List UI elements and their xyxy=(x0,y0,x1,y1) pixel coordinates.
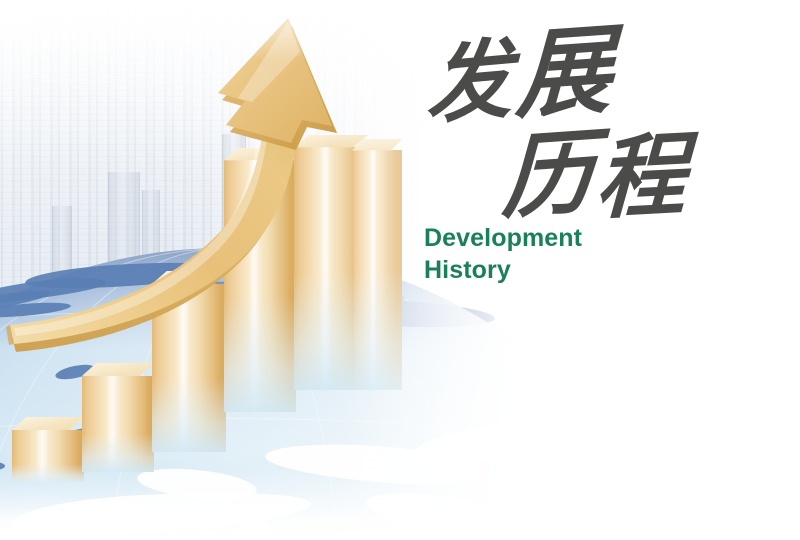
bar-fade xyxy=(152,378,226,452)
title-block: 发 展 历 程 Development History xyxy=(424,18,744,286)
chinese-char-fa: 发 xyxy=(426,36,512,130)
chinese-char-li: 历 xyxy=(500,127,595,226)
chinese-char-zhan: 展 xyxy=(514,22,613,125)
bar-fade xyxy=(224,296,296,412)
english-subtitle-line-1: Development xyxy=(424,222,744,254)
chinese-char-cheng: 程 xyxy=(594,132,687,227)
bar-1 xyxy=(12,430,84,482)
development-history-banner: 发 展 历 程 Development History xyxy=(0,0,800,540)
bar-fade xyxy=(352,270,402,390)
bar-chart xyxy=(0,0,460,540)
bar-2 xyxy=(82,376,154,472)
english-subtitle: Development History xyxy=(424,222,744,286)
bar-3 xyxy=(152,284,226,452)
english-subtitle-line-2: History xyxy=(424,254,744,286)
chinese-calligraphy-title: 发 展 历 程 xyxy=(424,18,694,218)
bar-6 xyxy=(352,150,402,390)
bar-fade xyxy=(12,464,84,482)
bar-4 xyxy=(224,160,296,412)
bar-fade xyxy=(82,434,154,472)
